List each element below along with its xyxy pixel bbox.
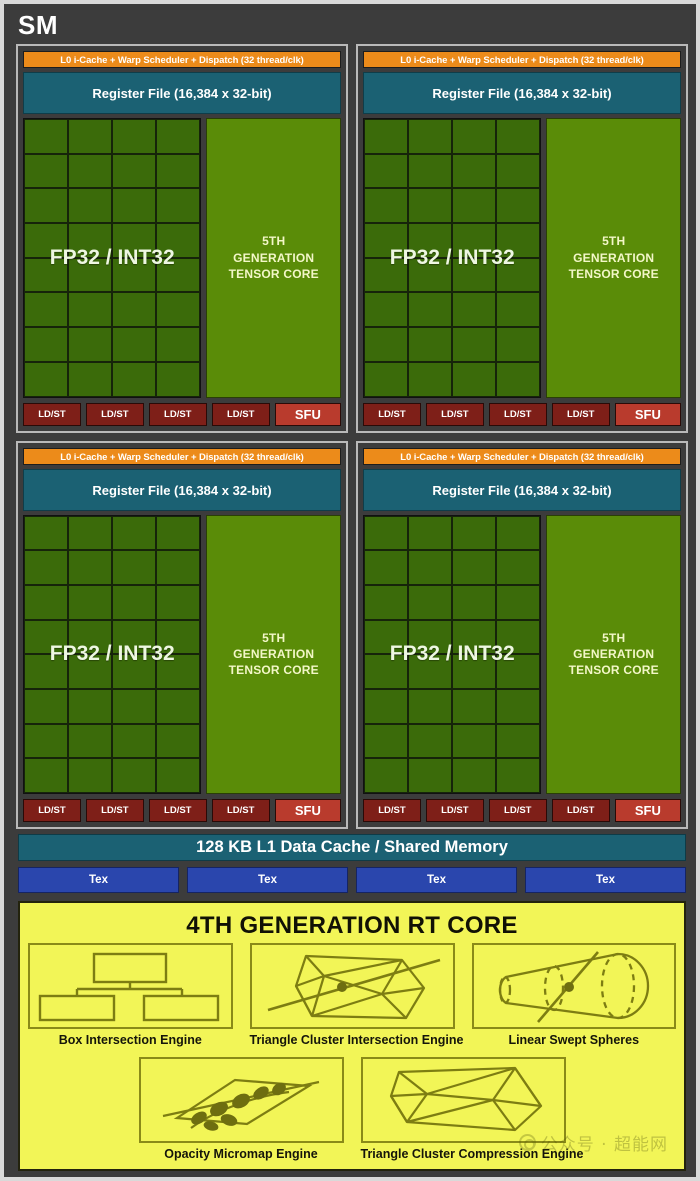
- rt-core-section: 4TH GENERATION RT CORE Box Intersection …: [18, 901, 686, 1171]
- fp32-cell: [24, 362, 68, 397]
- processing-block-1: L0 i-Cache + Warp Scheduler + Dispatch (…: [356, 44, 688, 433]
- rt-core-title: 4TH GENERATION RT CORE: [28, 909, 676, 943]
- fp32-cell: [364, 620, 408, 655]
- fp32-cell: [452, 362, 496, 397]
- fp32-cell: [24, 516, 68, 551]
- fp32-cell: [496, 154, 540, 189]
- fp32-cell: [112, 362, 156, 397]
- foliage-plane-icon: [139, 1057, 344, 1143]
- rt-engine-triangle-cluster-compression: Triangle Cluster Compression Engine: [361, 1057, 566, 1165]
- fp32-cell: [112, 689, 156, 724]
- sfu-unit: SFU: [275, 403, 341, 426]
- fp32-cell: [68, 258, 112, 293]
- register-file: Register File (16,384 x 32-bit): [363, 72, 681, 114]
- fp32-cell: [112, 327, 156, 362]
- register-file: Register File (16,384 x 32-bit): [363, 469, 681, 511]
- fp32-cell: [452, 516, 496, 551]
- fp32-cell: [156, 223, 200, 258]
- tensor-core-line: 5TH: [262, 630, 285, 646]
- tensor-core-line: 5TH: [262, 233, 285, 249]
- fp32-cell: [156, 362, 200, 397]
- fp32-cell: [452, 258, 496, 293]
- fp32-cell: [408, 292, 452, 327]
- fp32-cell: [496, 327, 540, 362]
- fp32-cell: [364, 758, 408, 793]
- fp32-cell: [24, 758, 68, 793]
- fp32-cell: [156, 516, 200, 551]
- fp32-cell: [452, 223, 496, 258]
- register-file: Register File (16,384 x 32-bit): [23, 72, 341, 114]
- rt-engine-box-intersection: Box Intersection Engine: [28, 943, 233, 1051]
- rt-engine-triangle-cluster-intersection: Triangle Cluster Intersection Engine: [250, 943, 455, 1051]
- fp32-cell: [364, 585, 408, 620]
- tensor-core-line: GENERATION: [573, 646, 654, 662]
- ldst-sfu-row: LD/ST LD/ST LD/ST LD/ST SFU: [363, 799, 681, 822]
- ldst-unit: LD/ST: [363, 799, 421, 822]
- fp32-cell: [452, 119, 496, 154]
- tensor-core-block: 5THGENERATIONTENSOR CORE: [546, 515, 681, 795]
- fp32-cell: [112, 758, 156, 793]
- tensor-core-line: GENERATION: [233, 250, 314, 266]
- fp32-cell: [24, 154, 68, 189]
- fp32-cell: [156, 154, 200, 189]
- ldst-unit: LD/ST: [552, 799, 610, 822]
- fp32-cell: [112, 188, 156, 223]
- processing-block-0: L0 i-Cache + Warp Scheduler + Dispatch (…: [16, 44, 348, 433]
- fp32-cell: [364, 654, 408, 689]
- fp32-cell: [408, 620, 452, 655]
- fp32-cell: [452, 154, 496, 189]
- fp32-cell: [24, 119, 68, 154]
- fp32-cell: [68, 689, 112, 724]
- ldst-unit: LD/ST: [426, 403, 484, 426]
- ldst-unit: LD/ST: [149, 799, 207, 822]
- tex-unit: Tex: [18, 867, 179, 893]
- fp32-cell: [156, 327, 200, 362]
- fp32-cell: [156, 654, 200, 689]
- fp32-cell: [24, 724, 68, 759]
- fp32-cell: [452, 620, 496, 655]
- ldst-unit: LD/ST: [489, 799, 547, 822]
- ldst-unit: LD/ST: [552, 403, 610, 426]
- fp32-cell: [408, 188, 452, 223]
- fp32-cell: [496, 223, 540, 258]
- fp32-int32-block: FP32 / INT32: [363, 118, 541, 398]
- swept-sphere-cone-icon: [472, 943, 677, 1029]
- fp32-cell: [112, 724, 156, 759]
- fp32-cell: [452, 724, 496, 759]
- rt-engine-row-1: Box Intersection Engine Triangle Cluster…: [28, 943, 676, 1051]
- register-file: Register File (16,384 x 32-bit): [23, 469, 341, 511]
- fp32-cell: [24, 258, 68, 293]
- fp32-cell: [408, 119, 452, 154]
- ldst-sfu-row: LD/ST LD/ST LD/ST LD/ST SFU: [23, 799, 341, 822]
- fp32-cell: [496, 516, 540, 551]
- box-hierarchy-icon: [28, 943, 233, 1029]
- fp32-cell: [68, 223, 112, 258]
- fp32-int32-block: FP32 / INT32: [23, 515, 201, 795]
- fp32-cell: [452, 689, 496, 724]
- core-area: FP32 / INT32 5THGENERATIONTENSOR CORE: [23, 118, 341, 398]
- fp32-cell: [68, 758, 112, 793]
- sfu-unit: SFU: [615, 403, 681, 426]
- fp32-int32-block: FP32 / INT32: [363, 515, 541, 795]
- fp32-cell: [496, 550, 540, 585]
- rt-engine-caption: Linear Swept Spheres: [472, 1029, 677, 1051]
- fp32-cell: [156, 689, 200, 724]
- ldst-unit: LD/ST: [363, 403, 421, 426]
- fp32-cell: [452, 292, 496, 327]
- fp32-cell: [364, 188, 408, 223]
- fp32-cell: [112, 154, 156, 189]
- tex-unit: Tex: [356, 867, 517, 893]
- fp32-cell: [408, 258, 452, 293]
- fp32-cell: [68, 724, 112, 759]
- fp32-cell: [112, 654, 156, 689]
- fp32-cell: [112, 585, 156, 620]
- warp-scheduler-bar: L0 i-Cache + Warp Scheduler + Dispatch (…: [23, 448, 341, 465]
- fp32-cell: [68, 154, 112, 189]
- warp-scheduler-bar: L0 i-Cache + Warp Scheduler + Dispatch (…: [23, 51, 341, 68]
- fp32-cell: [408, 516, 452, 551]
- fp32-cell: [156, 258, 200, 293]
- fp32-cell: [156, 585, 200, 620]
- tensor-core-line: TENSOR CORE: [569, 266, 659, 282]
- fp32-cell: [364, 550, 408, 585]
- fp32-cell: [452, 550, 496, 585]
- fp32-cell: [496, 585, 540, 620]
- fp32-cell: [24, 223, 68, 258]
- tex-unit-row: Tex Tex Tex Tex: [18, 867, 686, 893]
- tensor-core-block: 5THGENERATIONTENSOR CORE: [206, 118, 341, 398]
- fp32-cell: [364, 119, 408, 154]
- fp32-cell: [408, 550, 452, 585]
- ldst-unit: LD/ST: [86, 799, 144, 822]
- page-title: SM: [18, 10, 58, 40]
- triangle-mesh-ray-icon: [250, 943, 455, 1029]
- fp32-cell: [156, 758, 200, 793]
- tensor-core-block: 5THGENERATIONTENSOR CORE: [206, 515, 341, 795]
- fp32-cell: [68, 654, 112, 689]
- fp32-cell: [364, 362, 408, 397]
- fp32-cell: [452, 758, 496, 793]
- fp32-cell: [156, 550, 200, 585]
- fp32-cell: [68, 585, 112, 620]
- rt-engine-caption: Triangle Cluster Intersection Engine: [250, 1029, 455, 1051]
- fp32-cell: [364, 689, 408, 724]
- fp32-cell: [68, 620, 112, 655]
- fp32-cell: [408, 689, 452, 724]
- warp-scheduler-bar: L0 i-Cache + Warp Scheduler + Dispatch (…: [363, 448, 681, 465]
- fp32-cell: [24, 654, 68, 689]
- fp32-cell: [24, 292, 68, 327]
- warp-scheduler-bar: L0 i-Cache + Warp Scheduler + Dispatch (…: [363, 51, 681, 68]
- l1-data-cache-bar: 128 KB L1 Data Cache / Shared Memory: [18, 834, 686, 861]
- tensor-core-line: TENSOR CORE: [229, 662, 319, 678]
- fp32-cell: [408, 758, 452, 793]
- fp32-cell: [364, 724, 408, 759]
- fp32-cell: [364, 258, 408, 293]
- fp32-cell: [156, 620, 200, 655]
- fp32-cell: [408, 654, 452, 689]
- fp32-cell: [156, 724, 200, 759]
- fp32-cell: [496, 292, 540, 327]
- rt-engine-caption: Opacity Micromap Engine: [139, 1143, 344, 1165]
- fp32-cell: [364, 292, 408, 327]
- fp32-cell: [496, 188, 540, 223]
- fp32-cell: [112, 620, 156, 655]
- fp32-int32-block: FP32 / INT32: [23, 118, 201, 398]
- fp32-cell: [408, 585, 452, 620]
- fp32-cell: [68, 119, 112, 154]
- fp32-cell: [112, 550, 156, 585]
- tensor-core-line: GENERATION: [233, 646, 314, 662]
- ldst-sfu-row: LD/ST LD/ST LD/ST LD/ST SFU: [363, 403, 681, 426]
- ldst-unit: LD/ST: [23, 403, 81, 426]
- sfu-unit: SFU: [275, 799, 341, 822]
- ldst-unit: LD/ST: [23, 799, 81, 822]
- fp32-cell: [496, 362, 540, 397]
- fp32-cell: [408, 362, 452, 397]
- tensor-core-line: TENSOR CORE: [569, 662, 659, 678]
- ldst-unit: LD/ST: [489, 403, 547, 426]
- ldst-unit: LD/ST: [212, 403, 270, 426]
- fp32-cell: [496, 258, 540, 293]
- fp32-cell: [452, 327, 496, 362]
- triangle-mesh-icon: [361, 1057, 566, 1143]
- fp32-cell: [68, 550, 112, 585]
- rt-engine-opacity-micromap: Opacity Micromap Engine: [139, 1057, 344, 1165]
- ldst-unit: LD/ST: [86, 403, 144, 426]
- fp32-cell: [408, 724, 452, 759]
- fp32-cell: [496, 119, 540, 154]
- fp32-cell: [408, 327, 452, 362]
- fp32-cell: [24, 188, 68, 223]
- processing-block-2: L0 i-Cache + Warp Scheduler + Dispatch (…: [16, 441, 348, 830]
- fp32-cell: [452, 585, 496, 620]
- core-area: FP32 / INT32 5THGENERATIONTENSOR CORE: [363, 118, 681, 398]
- fp32-cell: [496, 689, 540, 724]
- sm-diagram: SM L0 i-Cache + Warp Scheduler + Dispatc…: [0, 0, 700, 1181]
- fp32-cell: [112, 223, 156, 258]
- tensor-core-block: 5THGENERATIONTENSOR CORE: [546, 118, 681, 398]
- tex-unit: Tex: [187, 867, 348, 893]
- processing-block-grid: L0 i-Cache + Warp Scheduler + Dispatch (…: [16, 44, 688, 829]
- fp32-cell: [364, 327, 408, 362]
- fp32-cell: [364, 223, 408, 258]
- tex-unit: Tex: [525, 867, 686, 893]
- tensor-core-line: GENERATION: [573, 250, 654, 266]
- fp32-cell: [156, 292, 200, 327]
- core-area: FP32 / INT32 5THGENERATIONTENSOR CORE: [363, 515, 681, 795]
- core-area: FP32 / INT32 5THGENERATIONTENSOR CORE: [23, 515, 341, 795]
- ldst-unit: LD/ST: [212, 799, 270, 822]
- fp32-cell: [112, 258, 156, 293]
- fp32-cell: [408, 154, 452, 189]
- fp32-cell: [68, 188, 112, 223]
- fp32-cell: [68, 327, 112, 362]
- rt-engine-row-2: Opacity Micromap Engine Triangle Cluster…: [28, 1057, 676, 1165]
- fp32-cell: [24, 689, 68, 724]
- processing-block-3: L0 i-Cache + Warp Scheduler + Dispatch (…: [356, 441, 688, 830]
- fp32-cell: [68, 362, 112, 397]
- rt-engine-caption: Box Intersection Engine: [28, 1029, 233, 1051]
- fp32-cell: [24, 327, 68, 362]
- fp32-cell: [496, 654, 540, 689]
- fp32-cell: [112, 119, 156, 154]
- ldst-sfu-row: LD/ST LD/ST LD/ST LD/ST SFU: [23, 403, 341, 426]
- ldst-unit: LD/ST: [426, 799, 484, 822]
- rt-engine-linear-swept-spheres: Linear Swept Spheres: [472, 943, 677, 1051]
- fp32-cell: [156, 188, 200, 223]
- fp32-cell: [112, 292, 156, 327]
- sfu-unit: SFU: [615, 799, 681, 822]
- fp32-cell: [452, 654, 496, 689]
- fp32-cell: [496, 620, 540, 655]
- fp32-cell: [496, 758, 540, 793]
- fp32-cell: [112, 516, 156, 551]
- tensor-core-line: 5TH: [602, 630, 625, 646]
- fp32-cell: [364, 516, 408, 551]
- fp32-cell: [364, 154, 408, 189]
- fp32-cell: [24, 585, 68, 620]
- fp32-cell: [496, 724, 540, 759]
- fp32-cell: [68, 292, 112, 327]
- fp32-cell: [452, 188, 496, 223]
- fp32-cell: [24, 550, 68, 585]
- tensor-core-line: TENSOR CORE: [229, 266, 319, 282]
- tensor-core-line: 5TH: [602, 233, 625, 249]
- ldst-unit: LD/ST: [149, 403, 207, 426]
- fp32-cell: [24, 620, 68, 655]
- fp32-cell: [408, 223, 452, 258]
- fp32-cell: [68, 516, 112, 551]
- fp32-cell: [156, 119, 200, 154]
- rt-engine-caption: Triangle Cluster Compression Engine: [361, 1143, 566, 1165]
